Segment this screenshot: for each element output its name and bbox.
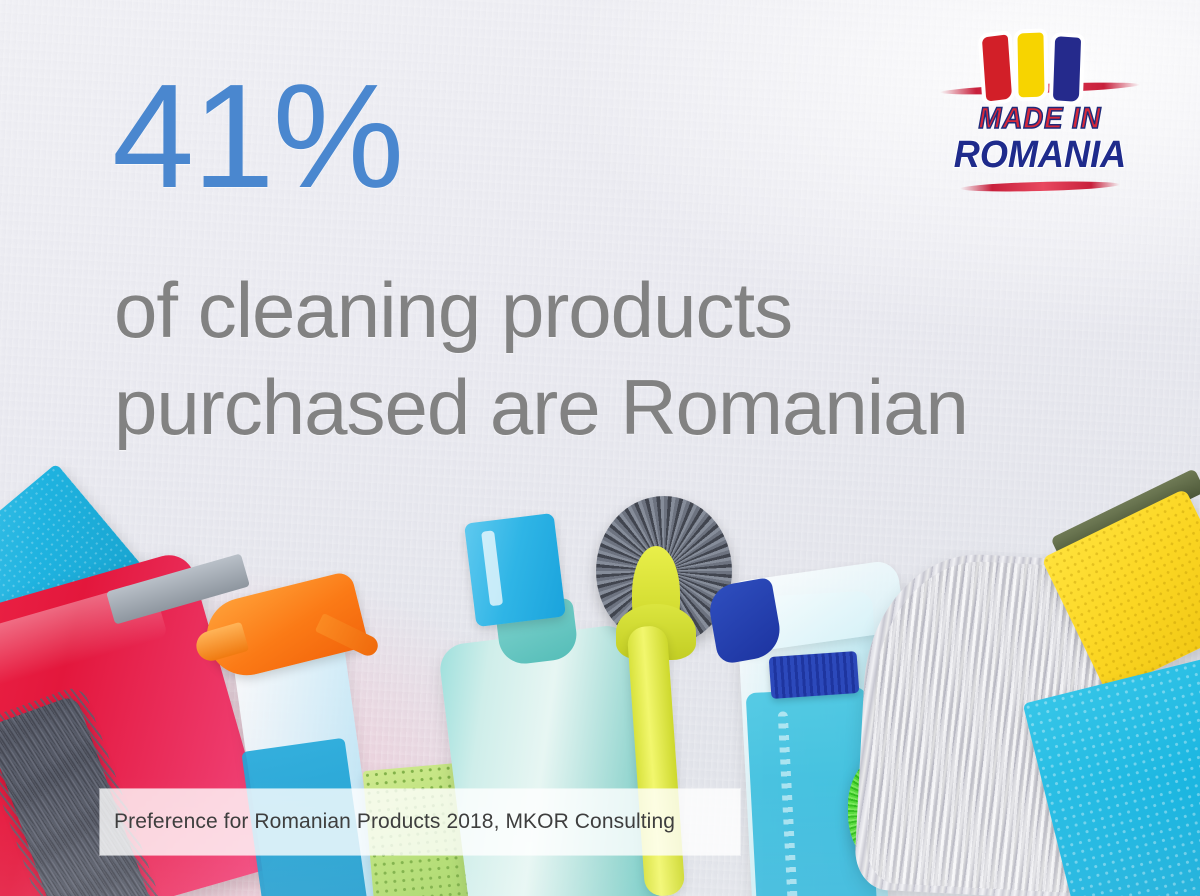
clear-spray-blue-collar: [769, 651, 860, 699]
logo-romania-text: ROMANIA: [941, 134, 1139, 177]
infographic-slide: 41% of cleaning products purchased are R…: [0, 0, 1200, 896]
source-caption-box: Preference for Romanian Products 2018, M…: [100, 789, 740, 855]
headline-percent: 41%: [112, 63, 402, 211]
logo-swoosh-bottom: [960, 180, 1120, 193]
flag-stripe-red-icon: [978, 30, 1017, 106]
made-in-romania-logo: MADE IN ROMANIA: [936, 24, 1144, 196]
romanian-flag-icon: [980, 32, 1096, 108]
headline-body-text: of cleaning products purchased are Roman…: [114, 262, 1034, 455]
flag-stripe-yellow-icon: [1013, 28, 1048, 101]
flag-stripe-blue-icon: [1049, 32, 1085, 106]
teal-bottle-blue-cap: [464, 513, 566, 627]
source-caption-text: Preference for Romanian Products 2018, M…: [100, 808, 689, 835]
logo-made-in-text: MADE IN: [944, 102, 1135, 136]
